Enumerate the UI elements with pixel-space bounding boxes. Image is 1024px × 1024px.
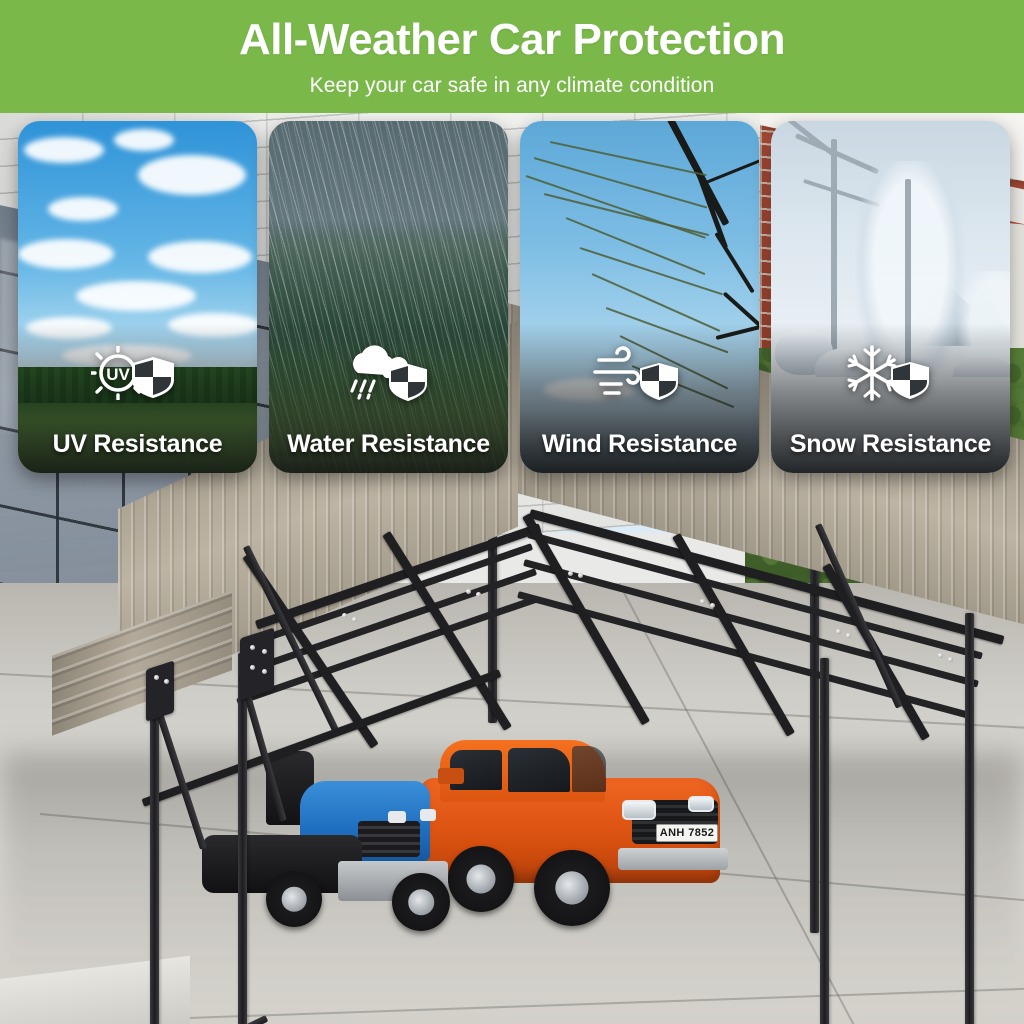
carport-post-front-mid xyxy=(238,653,247,1024)
snow-card-label: Snow Resistance xyxy=(771,430,1010,459)
mower-grille xyxy=(358,821,420,857)
feature-card-uv-resistance[interactable]: UV UV Resistance xyxy=(18,121,257,473)
mower-wheel-front xyxy=(392,873,450,931)
truck-front-bumper xyxy=(618,848,728,870)
svg-text:UV: UV xyxy=(106,365,130,384)
header-banner: All-Weather Car Protection Keep your car… xyxy=(0,0,1024,113)
rain-cloud-shield-icon xyxy=(341,345,437,401)
mower-wheel-rear xyxy=(266,871,322,927)
snowflake-shield-icon xyxy=(843,345,939,401)
page-subtitle: Keep your car safe in any climate condit… xyxy=(310,74,715,98)
product-marketing-image: ANH 7852 xyxy=(0,0,1024,1024)
feature-card-wind-resistance[interactable]: Wind Resistance xyxy=(520,121,759,473)
mower-headlight-left xyxy=(388,811,406,823)
mower-headlight-right xyxy=(420,809,436,821)
uv-card-label: UV Resistance xyxy=(18,430,257,459)
wind-gust-shield-icon xyxy=(592,345,688,401)
truck-wheel-front xyxy=(534,850,610,926)
truck-headlight-left xyxy=(622,800,656,820)
feature-card-row: UV UV Resistance xyxy=(0,113,1024,473)
carport-gusset-2 xyxy=(146,660,174,721)
page-title: All-Weather Car Protection xyxy=(239,18,785,62)
license-plate: ANH 7852 xyxy=(656,824,718,842)
feature-card-snow-resistance[interactable]: Snow Resistance xyxy=(771,121,1010,473)
carport-gusset-1 xyxy=(240,627,274,700)
sun-uv-shield-icon: UV xyxy=(90,345,186,401)
riding-lawn-mower xyxy=(260,753,490,963)
carport-post-front-left xyxy=(150,673,159,1024)
truck-windshield xyxy=(572,746,606,792)
wind-card-label: Wind Resistance xyxy=(520,430,759,459)
carport-post-front-right xyxy=(965,613,974,1024)
truck-window-front xyxy=(508,748,570,792)
truck-headlight-right xyxy=(688,796,714,812)
carport-post-mid-right xyxy=(820,658,829,1024)
water-card-label: Water Resistance xyxy=(269,430,508,459)
feature-card-water-resistance[interactable]: Water Resistance xyxy=(269,121,508,473)
